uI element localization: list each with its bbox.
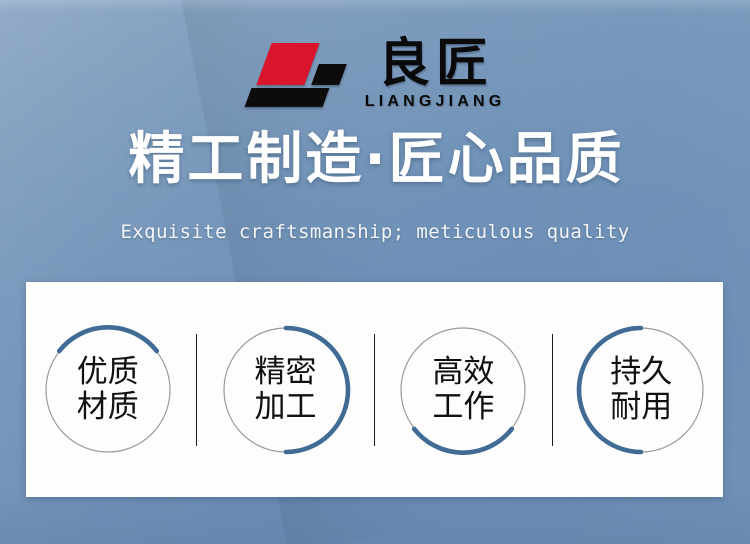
feature-item-durability[interactable]: 持久耐用 [566, 315, 716, 465]
feature-item-material[interactable]: 优质材质 [33, 315, 183, 465]
feature-divider [374, 334, 375, 446]
logo-small-black-parallelogram-icon [311, 64, 347, 85]
feature-card: 优质材质 精密加工 高效工作 [26, 282, 723, 497]
feature-divider [552, 334, 553, 446]
logo-english-name: LIANGJIANG [361, 94, 506, 110]
feature-item-efficiency[interactable]: 高效工作 [388, 315, 538, 465]
feature-label-durability: 持久耐用 [610, 355, 672, 425]
logo-wordmark: 良匠 LIANGJIANG [361, 38, 506, 110]
feature-label-precision: 精密加工 [255, 355, 317, 425]
logo-mark-icon [245, 41, 343, 107]
feature-divider [196, 334, 197, 446]
feature-label-efficiency: 高效工作 [432, 355, 494, 425]
feature-label-material: 优质材质 [77, 355, 139, 425]
logo-red-parallelogram-icon [256, 43, 319, 85]
logo-large-black-parallelogram-icon [244, 88, 329, 107]
feature-list: 优质材质 精密加工 高效工作 [26, 282, 723, 497]
background-top-highlight [0, 0, 750, 12]
brand-logo: 良匠 LIANGJIANG [0, 38, 750, 116]
headline-main: 精工制造·匠心品质 [0, 126, 750, 194]
headline-sub: Exquisite craftsmanship; meticulous qual… [0, 219, 750, 245]
feature-item-precision[interactable]: 精密加工 [211, 315, 361, 465]
promo-banner: 良匠 LIANGJIANG 精工制造·匠心品质 Exquisite crafts… [0, 0, 750, 544]
logo-chinese-name: 良匠 [372, 38, 494, 90]
